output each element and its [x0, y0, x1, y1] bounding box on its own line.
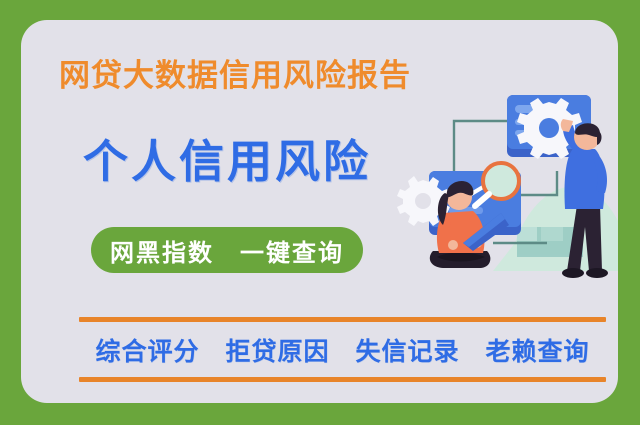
banner-inner-panel: 网贷大数据信用风险报告 个人信用风险 网黑指数 一键查询 综合评分 拒贷原因 失… — [21, 20, 618, 403]
feature-item-score[interactable]: 综合评分 — [95, 332, 199, 368]
divider-top — [79, 317, 606, 322]
page-title: 网贷大数据信用风险报告 — [59, 60, 479, 93]
feature-item-rejection-reason[interactable]: 拒贷原因 — [225, 332, 329, 368]
feature-item-defaulter-query[interactable]: 老赖查询 — [486, 332, 590, 368]
page-subtitle: 个人信用风险 — [83, 138, 371, 185]
credit-risk-banner: 网贷大数据信用风险报告 个人信用风险 网黑指数 一键查询 综合评分 拒贷原因 失… — [0, 0, 640, 425]
feature-item-dishonesty-record[interactable]: 失信记录 — [356, 332, 460, 368]
divider-bottom — [79, 377, 606, 382]
feature-list: 综合评分 拒贷原因 失信记录 老赖查询 — [79, 330, 606, 370]
query-cta-label: 网黑指数 一键查询 — [110, 233, 344, 268]
illustration — [397, 75, 618, 300]
query-cta-button[interactable]: 网黑指数 一键查询 — [91, 227, 363, 273]
